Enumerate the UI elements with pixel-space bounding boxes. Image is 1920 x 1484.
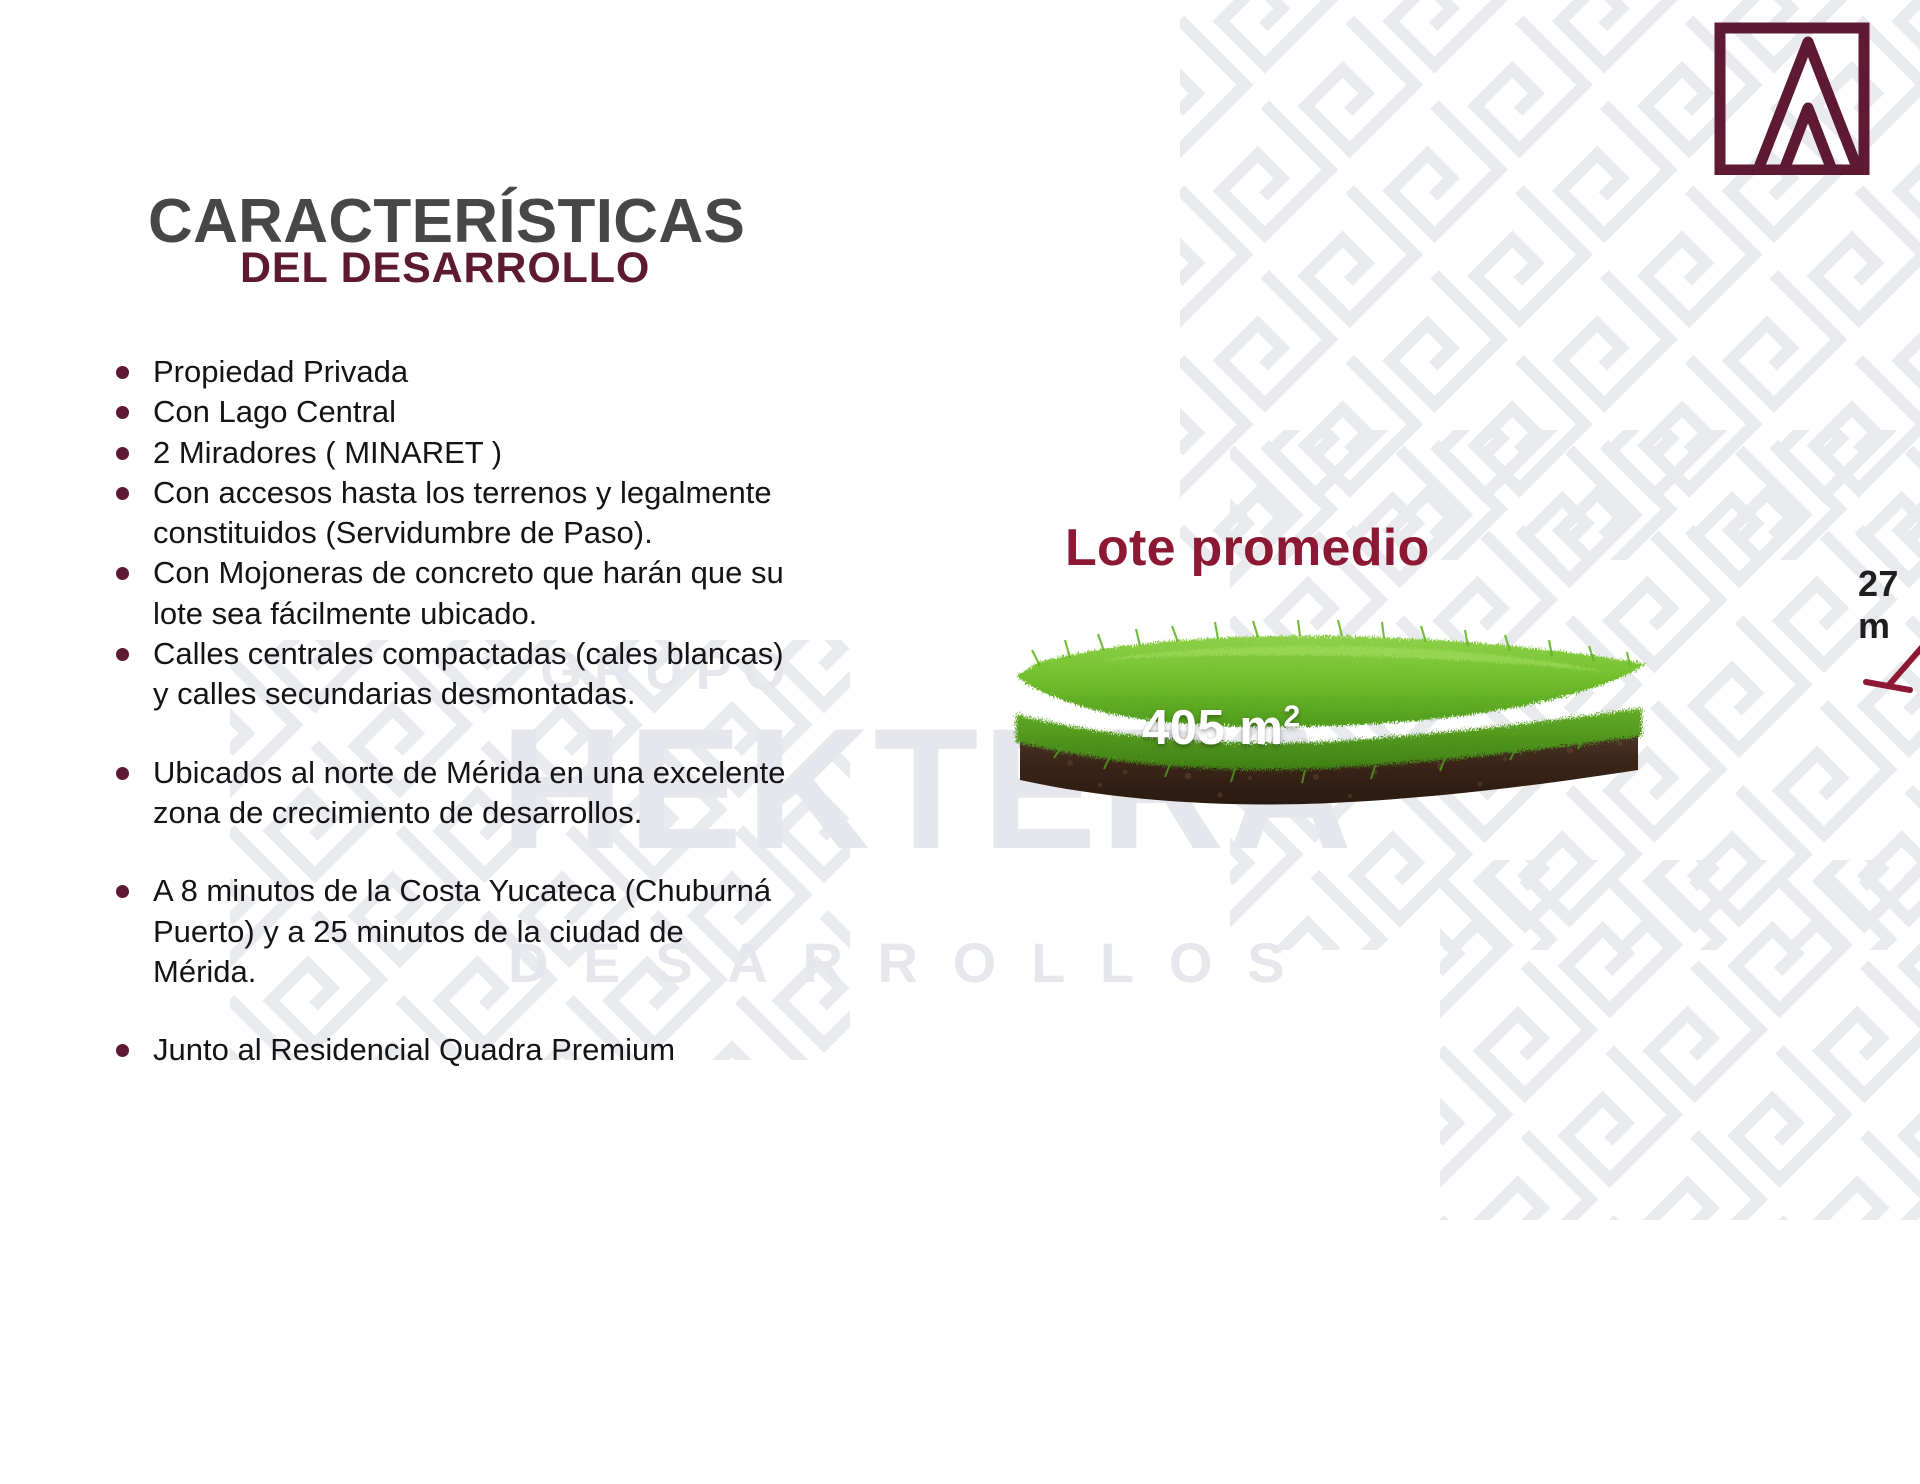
list-item: Con Lago Central — [105, 392, 985, 432]
list-item: Con accesos hasta los terrenos y legalme… — [105, 473, 985, 554]
feature-text: 2 Miradores ( MINARET ) — [153, 433, 985, 473]
feature-text: Con accesos hasta los terrenos y legalme… — [153, 473, 985, 554]
bullet-dot-icon — [116, 447, 129, 460]
feature-text: Propiedad Privada — [153, 352, 985, 392]
feature-text: A 8 minutos de la Costa Yucateca (Chubur… — [153, 871, 985, 992]
bullet-dot-icon — [116, 1044, 129, 1057]
bullet-dot-icon — [116, 567, 129, 580]
feature-text: Calles centrales compactadas (cales blan… — [153, 634, 985, 715]
list-item: Propiedad Privada — [105, 352, 985, 392]
feature-text: Junto al Residencial Quadra Premium — [153, 1030, 985, 1070]
bullet-dot-icon — [116, 366, 129, 379]
list-item: Ubicados al norte de Mérida en una excel… — [105, 753, 985, 834]
list-item: Calles centrales compactadas (cales blan… — [105, 634, 985, 715]
list-item: 2 Miradores ( MINARET ) — [105, 433, 985, 473]
bullet-dot-icon — [116, 767, 129, 780]
hektera-a-monogram-icon — [1712, 20, 1872, 175]
list-item: Con Mojoneras de concreto que harán que … — [105, 553, 985, 634]
bullet-dot-icon — [116, 487, 129, 500]
bullet-dot-icon — [116, 406, 129, 419]
page-subtitle: DEL DESARROLLO — [240, 244, 650, 293]
lot-area-value: 405 m — [1142, 701, 1283, 755]
feature-text: Con Mojoneras de concreto que harán que … — [153, 553, 985, 634]
dimension-depth-label: 27 m — [1858, 563, 1920, 647]
features-column: CARACTERÍSTICAS DEL DESARROLLO Propiedad… — [0, 0, 1010, 1484]
bullet-dot-icon — [116, 885, 129, 898]
feature-list: Propiedad Privada Con Lago Central 2 Mir… — [105, 352, 985, 1070]
feature-text: Con Lago Central — [153, 392, 985, 432]
bullet-dot-icon — [116, 648, 129, 661]
lot-area-label: 405 m2 — [1142, 700, 1301, 756]
feature-text: Ubicados al norte de Mérida en una excel… — [153, 753, 985, 834]
list-item: A 8 minutos de la Costa Yucateca (Chubur… — [105, 871, 985, 992]
lot-heading: Lote promedio — [1065, 518, 1430, 578]
lot-area-exponent: 2 — [1283, 700, 1300, 734]
list-item: Junto al Residencial Quadra Premium — [105, 1030, 985, 1070]
